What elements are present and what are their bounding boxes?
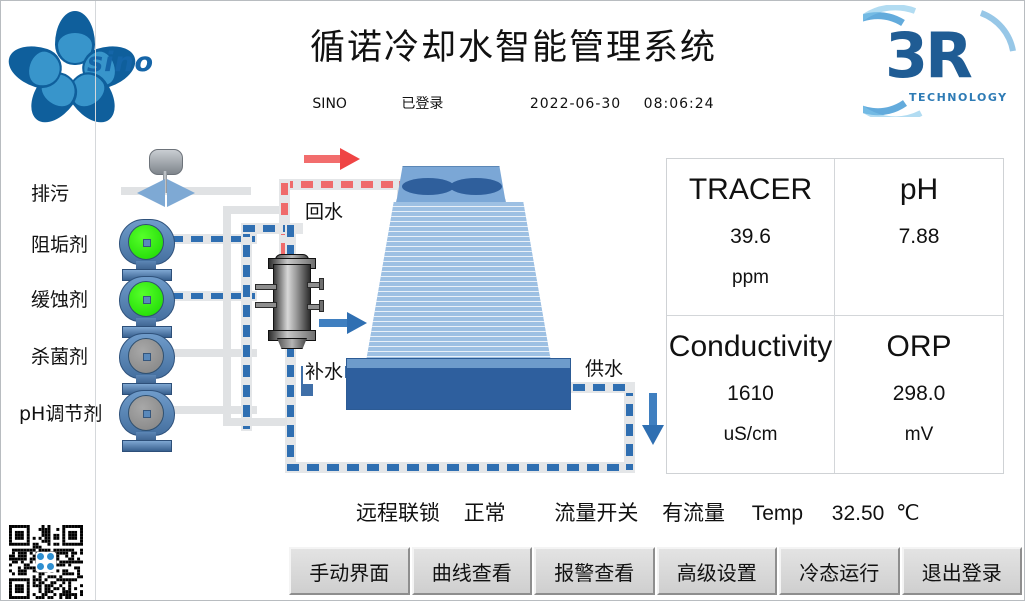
3r-logo-text: 3R [885,19,970,92]
header: sino 循诺冷却水智能管理系统 SINO 已登录 2022-06-30 08:… [1,1,1025,121]
dosing-pump-antiscalant[interactable] [119,219,173,279]
reading-unit: ppm [667,267,834,289]
temp-value: 32.50 [832,502,885,526]
hx-nozzle-cap-lower-icon [319,300,324,312]
pump-status-indicator [128,281,164,317]
qr-center-logo-icon [36,552,56,572]
reading-value: 39.6 [667,225,834,249]
button-bar: 手动界面 曲线查看 报警查看 高级设置 冷态运行 退出登录 [289,547,1022,595]
pump-base-icon [122,440,172,452]
qr-code[interactable] [9,525,83,599]
equipment-label-inhibitor: 缓蚀剂 [31,285,88,312]
trend-view-button[interactable]: 曲线查看 [412,547,533,595]
pipe-supply-right [626,384,633,470]
valve-body-left-icon [137,179,165,207]
cold-start-button[interactable]: 冷态运行 [779,547,900,595]
pump-status-indicator [128,338,164,374]
pump-status-indicator [128,224,164,260]
manual-interface-button[interactable]: 手动界面 [289,547,410,595]
equipment-label-biocide: 杀菌剂 [31,342,88,369]
reading-tracer: TRACER 39.6 ppm [667,159,835,316]
reading-unit: mV [835,424,1003,446]
dosing-pump-inhibitor[interactable] [119,276,173,336]
pipe-loop-bottom [287,464,633,471]
valve-body-right-icon [167,179,195,207]
reading-ph: pH 7.88 [835,159,1003,316]
temp-label: Temp [752,502,803,526]
tower-fan-blade-left-icon [402,178,454,195]
pipe-loop-left [243,225,250,429]
equipment-label-antiscalant: 阻垢剂 [31,230,88,257]
supply-arrow-shaft [649,393,657,427]
3r-logo-subtext: TECHNOLOGY [909,91,1008,104]
dosing-pump-biocide[interactable] [119,333,173,393]
blowdown-valve[interactable] [123,149,209,207]
system-date: 2022-06-30 [530,96,621,112]
temp-unit: ℃ [896,501,920,526]
cooling-tower[interactable] [346,166,596,421]
current-user: SINO [312,96,347,112]
reading-name: ORP [835,330,1003,364]
system-time: 08:06:24 [644,96,715,112]
interlock-label: 远程联锁 [356,497,440,527]
heat-exchanger[interactable] [263,254,319,348]
login-status: 已登录 [401,93,443,113]
flow-label-makeup-water: 补水 [303,357,345,384]
reading-name: TRACER [667,173,834,207]
reading-conductivity: Conductivity 1610 uS/cm [667,316,835,473]
pump-status-indicator [128,395,164,431]
reading-name: Conductivity [667,330,834,364]
reading-value: 298.0 [835,382,1003,406]
hx-nozzle-left-upper-icon [255,284,277,290]
flow-switch-value: 有流量 [662,497,725,527]
hx-shell-icon [273,264,311,334]
flow-switch-label: 流量开关 [554,497,638,527]
reading-value: 1610 [667,382,834,406]
flow-label-return-water: 回水 [303,197,345,224]
pipe-guide-outer-top [223,206,279,214]
reading-name: pH [835,173,1003,207]
return-arrow-shaft [304,155,340,163]
makeup-arrow-shaft [319,319,347,327]
hx-nozzle-left-lower-icon [255,302,277,308]
hx-foot-icon [277,338,307,349]
hmi-screen: sino 循诺冷却水智能管理系统 SINO 已登录 2022-06-30 08:… [0,0,1025,601]
status-bar: 远程联锁 正常 流量开关 有流量 Temp 32.50 ℃ [356,497,1006,529]
reading-orp: ORP 298.0 mV [835,316,1003,473]
advanced-settings-button[interactable]: 高级设置 [657,547,778,595]
interlock-value: 正常 [464,497,506,527]
pipe-guide-outer-left [223,206,231,424]
tower-fan-blade-right-icon [450,178,502,195]
alarm-view-button[interactable]: 报警查看 [534,547,655,595]
3r-technology-logo: 3R TECHNOLOGY [863,5,1018,117]
equipment-label-ph-adjust: pH调节剂 [19,399,102,426]
dosing-pump-ph-adjust[interactable] [119,390,173,450]
equipment-label-blowdown: 排污 [31,179,69,206]
hx-nozzle-cap-upper-icon [319,278,324,290]
reading-unit: uS/cm [667,424,834,446]
pipe-guide-outer-bottom [223,418,287,426]
tower-basin-icon [346,358,571,410]
vertical-divider [95,1,96,601]
tower-fill-body-icon [366,202,551,362]
supply-flow-arrow-icon [642,425,664,445]
reading-value: 7.88 [835,225,1003,249]
measurements-panel: TRACER 39.6 ppm pH 7.88 Conductivity 161… [666,158,1004,474]
logout-button[interactable]: 退出登录 [902,547,1023,595]
